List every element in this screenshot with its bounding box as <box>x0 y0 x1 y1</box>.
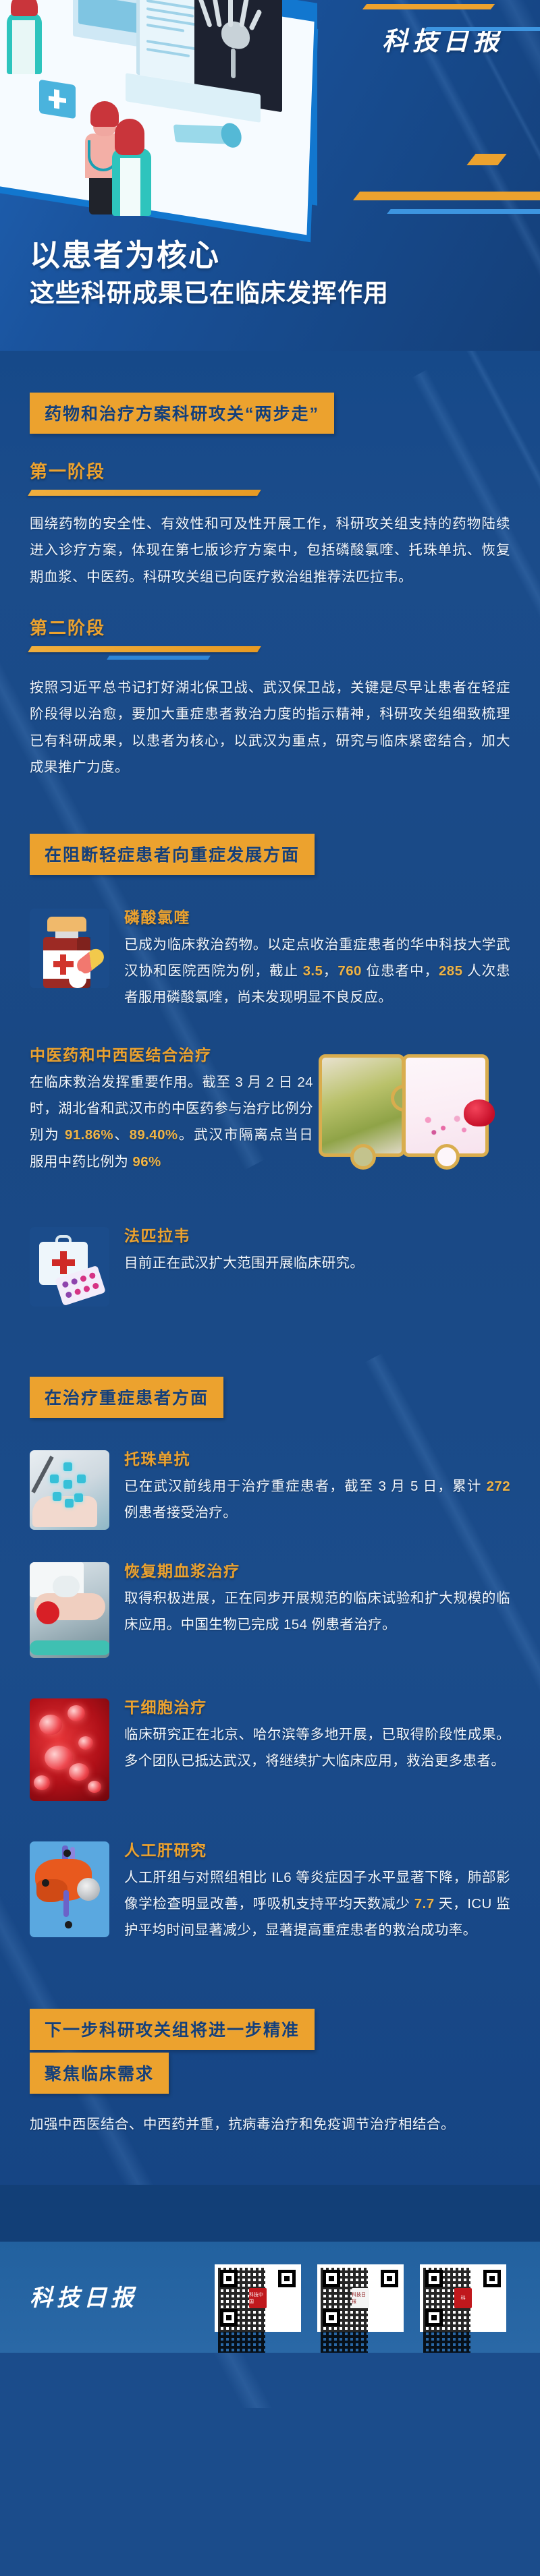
main-content: 药物和治疗方案科研攻关“两步走” 第一阶段 围绕药物的安全性、有效性和可及性开展… <box>0 351 540 2185</box>
hero-banner: 科技日报 以患者为核心 这些科研成果已在临床发挥作用 <box>0 0 540 351</box>
footer: 科技日报 科技中国 科技日报 科 <box>0 2185 540 2353</box>
brand-logo: 科技日报 <box>382 20 504 57</box>
qr-code-group: 科技中国 科技日报 科 <box>215 2264 506 2332</box>
hospital-cross-icon <box>39 80 76 119</box>
red-blood-cells-icon <box>30 1698 109 1801</box>
decor-line-blue <box>387 209 540 214</box>
item-title-stemcell: 干细胞治疗 <box>124 1694 510 1717</box>
doctor-standing-illustration <box>5 0 45 73</box>
item-favipiravir: 法匹拉韦 目前正在武汉扩大范围开展临床研究。 <box>30 1223 510 1304</box>
qr-code-2[interactable]: 科技日报 <box>317 2264 404 2332</box>
section-band-next-step: 下一步科研攻关组将进一步精准 <box>30 2009 315 2050</box>
footer-brand-logo: 科技日报 <box>30 2279 138 2312</box>
phase-2-rule-blue <box>107 656 211 660</box>
title-line-1: 以患者为核心 <box>30 237 389 273</box>
item-text-chloroquine: 已成为临床救治药物。以定点收治重症患者的华中科技大学武汉协和医院西院为例，截止 … <box>124 932 510 1011</box>
item-text-tocilizumab: 已在武汉前线用于治疗重症患者，截至 3 月 5 日，累计 272 例患者接受治疗… <box>124 1473 510 1526</box>
item-plasma: 恢复期血浆治疗 取得积极进展，正在同步开展规范的临床试验和扩大规模的临床应用。中… <box>30 1558 510 1659</box>
hero-illustration <box>0 0 317 213</box>
decor-parallelogram <box>466 154 506 165</box>
title-line-2: 这些科研成果已在临床发挥作用 <box>30 277 389 310</box>
item-title-chloroquine: 磷酸氯喹 <box>124 905 510 927</box>
phase-1-text: 围绕药物的安全性、有效性和可及性开展工作，科研攻关组支持的药物陆续进入诊疗方案，… <box>30 511 510 590</box>
phase-2-label: 第二阶段 <box>30 614 540 639</box>
item-artificial-liver: 人工肝研究 人工肝组与对照组相比 IL6 等炎症因子水平显著下降，肺部影像学检查… <box>30 1837 510 1944</box>
section-3-band-wrap: 在治疗重症患者方面 <box>30 1377 540 1418</box>
section-band-severe: 在治疗重症患者方面 <box>30 1377 223 1418</box>
decor-line-orange <box>353 192 540 200</box>
section-band-block-mild: 在阻断轻症患者向重症发展方面 <box>30 834 315 875</box>
section-4-band-bottom-wrap: 聚焦临床需求 <box>30 2053 540 2094</box>
item-tcm: 中医药和中西医结合治疗 在临床救治发挥重要作用。截至 3 月 2 日 24 时，… <box>30 1042 510 1184</box>
phase-2-text: 按照习近平总书记打好湖北保卫战、武汉保卫战，关键是尽早让患者在轻症阶段得以治愈，… <box>30 675 510 780</box>
item-text-stemcell: 临床研究正在北京、哈尔滨等多地开展，已取得阶段性成果。多个团队已抵达武汉，将继续… <box>124 1721 510 1775</box>
lab-molecule-icon <box>30 1450 109 1530</box>
item-text-artificial-liver: 人工肝组与对照组相比 IL6 等炎症因子水平显著下降，肺部影像学检查明显改善，呼… <box>124 1864 510 1944</box>
decor-line-blue-2 <box>424 27 540 31</box>
item-stemcell: 干细胞治疗 临床研究正在北京、哈尔滨等多地开展，已取得阶段性成果。多个团队已抵达… <box>30 1694 510 1801</box>
decor-parallelogram-2 <box>362 4 495 9</box>
qr-2-logo: 科技日报 <box>352 2288 369 2308</box>
medicine-bottle-icon <box>30 909 109 988</box>
artificial-liver-icon <box>30 1841 109 1937</box>
section-4-band-top-wrap: 下一步科研攻关组将进一步精准 <box>30 2009 540 2050</box>
section-band-clinical-needs: 聚焦临床需求 <box>30 2053 169 2094</box>
puzzle-piece-herbs <box>319 1054 405 1157</box>
section-2-band-wrap: 在阻断轻症患者向重症发展方面 <box>30 834 540 875</box>
blood-donation-icon <box>30 1562 109 1658</box>
item-text-tcm: 在临床救治发挥重要作用。截至 3 月 2 日 24 时，湖北省和武汉市的中医药参… <box>30 1069 313 1175</box>
phase-2-rule <box>28 646 261 652</box>
item-title-tcm: 中医药和中西医结合治疗 <box>30 1042 313 1065</box>
section-1-band-wrap: 药物和治疗方案科研攻关“两步走” <box>30 393 540 434</box>
first-aid-kit-icon <box>30 1227 109 1307</box>
syringe-icon <box>173 124 228 144</box>
item-title-plasma: 恢复期血浆治疗 <box>124 1558 510 1581</box>
page-title: 以患者为核心 这些科研成果已在临床发挥作用 <box>30 237 389 310</box>
qr-1-logo: 科技中国 <box>249 2288 267 2308</box>
item-title-artificial-liver: 人工肝研究 <box>124 1837 510 1860</box>
phase-1-label: 第一阶段 <box>30 458 540 483</box>
item-chloroquine: 磷酸氯喹 已成为临床救治药物。以定点收治重症患者的华中科技大学武汉协和医院西院为… <box>30 905 510 1011</box>
puzzle-herbs-icon <box>313 1039 516 1195</box>
phase-1-rule <box>28 490 261 496</box>
qr-code-1[interactable]: 科技中国 <box>215 2264 301 2332</box>
item-text-plasma: 取得积极进展，正在同步开展规范的临床试验和扩大规模的临床应用。中国生物已完成 1… <box>124 1585 510 1638</box>
doctor-examining-illustration <box>112 119 154 217</box>
item-title-favipiravir: 法匹拉韦 <box>124 1223 510 1246</box>
qr-code-3[interactable]: 科 <box>420 2264 506 2332</box>
section-band-two-steps: 药物和治疗方案科研攻关“两步走” <box>30 393 334 434</box>
item-tocilizumab: 托珠单抗 已在武汉前线用于治疗重症患者，截至 3 月 5 日，累计 272 例患… <box>30 1446 510 1527</box>
closing-text: 加强中西医结合、中西药并重，抗病毒治疗和免疫调节治疗相结合。 <box>30 2111 510 2138</box>
puzzle-piece-granules <box>402 1054 489 1157</box>
item-text-favipiravir: 目前正在武汉扩大范围开展临床研究。 <box>124 1250 510 1276</box>
qr-3-logo: 科 <box>454 2288 472 2308</box>
item-title-tocilizumab: 托珠单抗 <box>124 1446 510 1469</box>
